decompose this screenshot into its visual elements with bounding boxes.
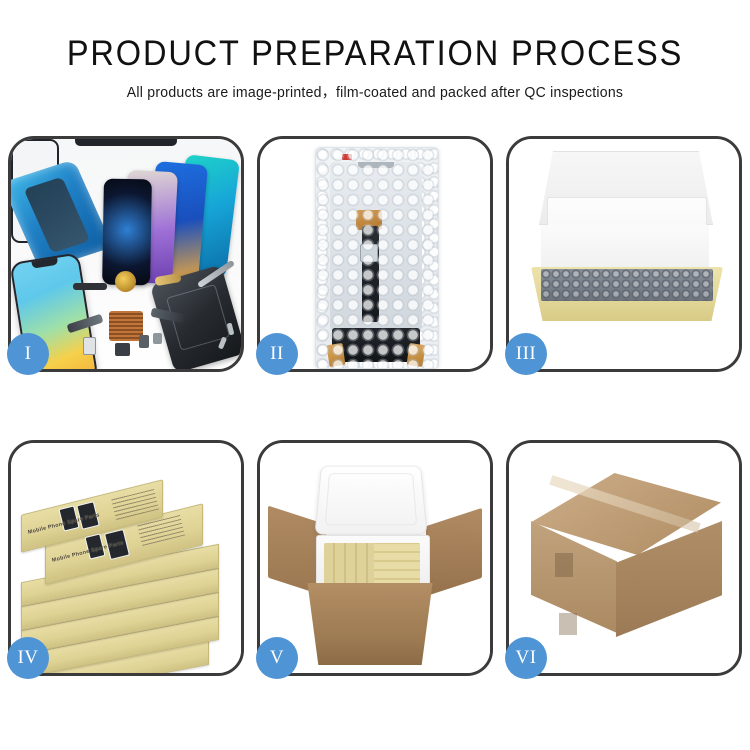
bubble-wrap-bag-icon: [315, 147, 439, 369]
sim-tray-part-icon: [83, 337, 96, 355]
step-4-image: Mobile Phone Spare Parts Mobile Phone Sp…: [11, 443, 241, 673]
carton-body-icon: [302, 583, 438, 665]
step-badge-3: III: [505, 333, 547, 375]
step-badge-6: VI: [505, 637, 547, 679]
header: PRODUCT PREPARATION PROCESS All products…: [0, 0, 750, 102]
step-2-image: [260, 139, 490, 369]
copper-mesh-part-icon: [109, 311, 143, 341]
gold-tab-icon: [407, 343, 426, 367]
camera-module-part-icon: [115, 343, 130, 356]
step-3-image: [509, 139, 739, 369]
process-step-card-3: III: [506, 136, 742, 372]
page-title: PRODUCT PREPARATION PROCESS: [26, 34, 724, 74]
box-stack-icon: Mobile Phone Spare Parts Mobile Phone Sp…: [17, 467, 239, 663]
step-1-image: [11, 139, 241, 369]
gray-bubble-wrap-icon: [541, 269, 713, 301]
step-badge-2: II: [256, 333, 298, 375]
yellow-boxes-contents-icon: [374, 543, 420, 587]
carton-tab-icon: [555, 553, 573, 577]
page-subtitle: All products are image-printed，film-coat…: [11, 81, 739, 102]
process-step-card-4: Mobile Phone Spare Parts Mobile Phone Sp…: [8, 440, 244, 676]
process-step-card-5: V: [257, 440, 493, 676]
step-badge-4: IV: [7, 637, 49, 679]
process-step-card-1: I: [8, 136, 244, 372]
phone-dark-icon: [102, 179, 152, 286]
foam-lid-icon: [314, 466, 427, 535]
product-preparation-infographic: PRODUCT PREPARATION PROCESS All products…: [0, 0, 750, 750]
gold-tab-icon: [327, 343, 346, 367]
step-5-image: [260, 443, 490, 673]
white-foam-sheet-icon: [541, 225, 709, 271]
carton-tab-icon: [559, 613, 577, 635]
flex-cable-strip-icon: [362, 226, 379, 322]
sensor-part-icon: [153, 333, 162, 344]
carton-flap-right-icon: [426, 508, 482, 596]
wireless-coil-part-icon: [115, 271, 136, 292]
step-6-image: [509, 443, 739, 673]
process-step-card-2: II: [257, 136, 493, 372]
connector-part-icon: [139, 335, 149, 348]
step-badge-5: V: [256, 637, 298, 679]
driver-chip-icon: [360, 244, 378, 262]
step-badge-1: I: [7, 333, 49, 375]
process-step-card-6: VI: [506, 440, 742, 676]
process-step-grid: I II: [8, 136, 742, 676]
speaker-part-icon: [73, 283, 107, 290]
red-label-mark-icon: [342, 154, 352, 160]
